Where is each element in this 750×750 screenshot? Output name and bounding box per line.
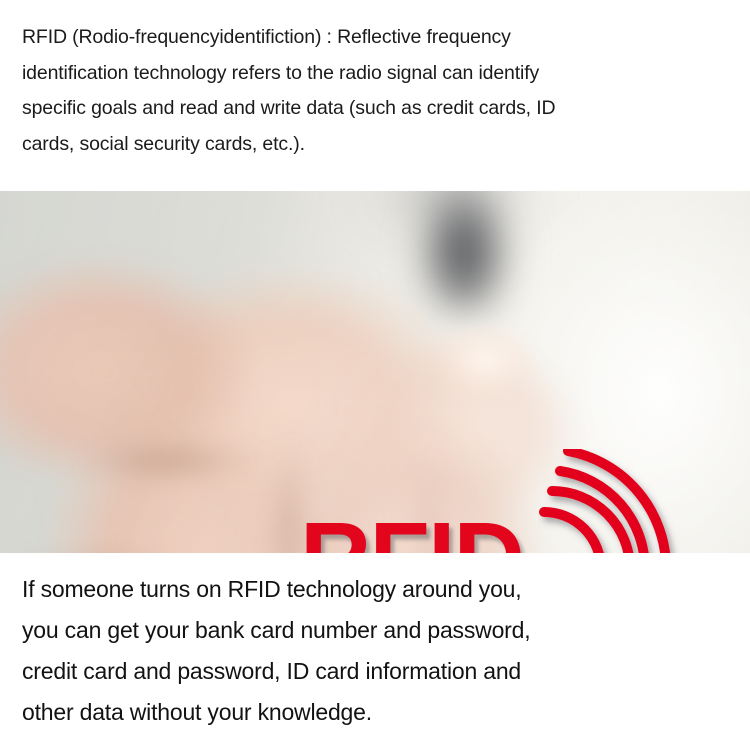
paragraph-line: If someone turns on RFID technology arou… <box>22 569 728 610</box>
paragraph-line: RFID (Rodio-frequencyidentifiction) : Re… <box>22 20 728 56</box>
rfid-signal-waves-icon <box>538 449 708 553</box>
rfid-definition-paragraph: RFID (Rodio-frequencyidentifiction) : Re… <box>0 0 750 191</box>
rfid-hand-photo: RFID <box>0 191 750 553</box>
paragraph-line: specific goals and read and write data (… <box>22 91 728 127</box>
paragraph-line: credit card and password, ID card inform… <box>22 651 728 692</box>
product-description-page: RFID (Rodio-frequencyidentifiction) : Re… <box>0 0 750 750</box>
rfid-warning-paragraph: If someone turns on RFID technology arou… <box>0 553 750 750</box>
rfid-wordmark: RFID <box>300 507 523 553</box>
rfid-logo: RFID <box>300 449 700 553</box>
paragraph-line: you can get your bank card number and pa… <box>22 610 728 651</box>
paragraph-line: other data without your knowledge. <box>22 692 728 733</box>
paragraph-line: identification technology refers to the … <box>22 56 728 92</box>
paragraph-line: cards, social security cards, etc.). <box>22 127 728 163</box>
